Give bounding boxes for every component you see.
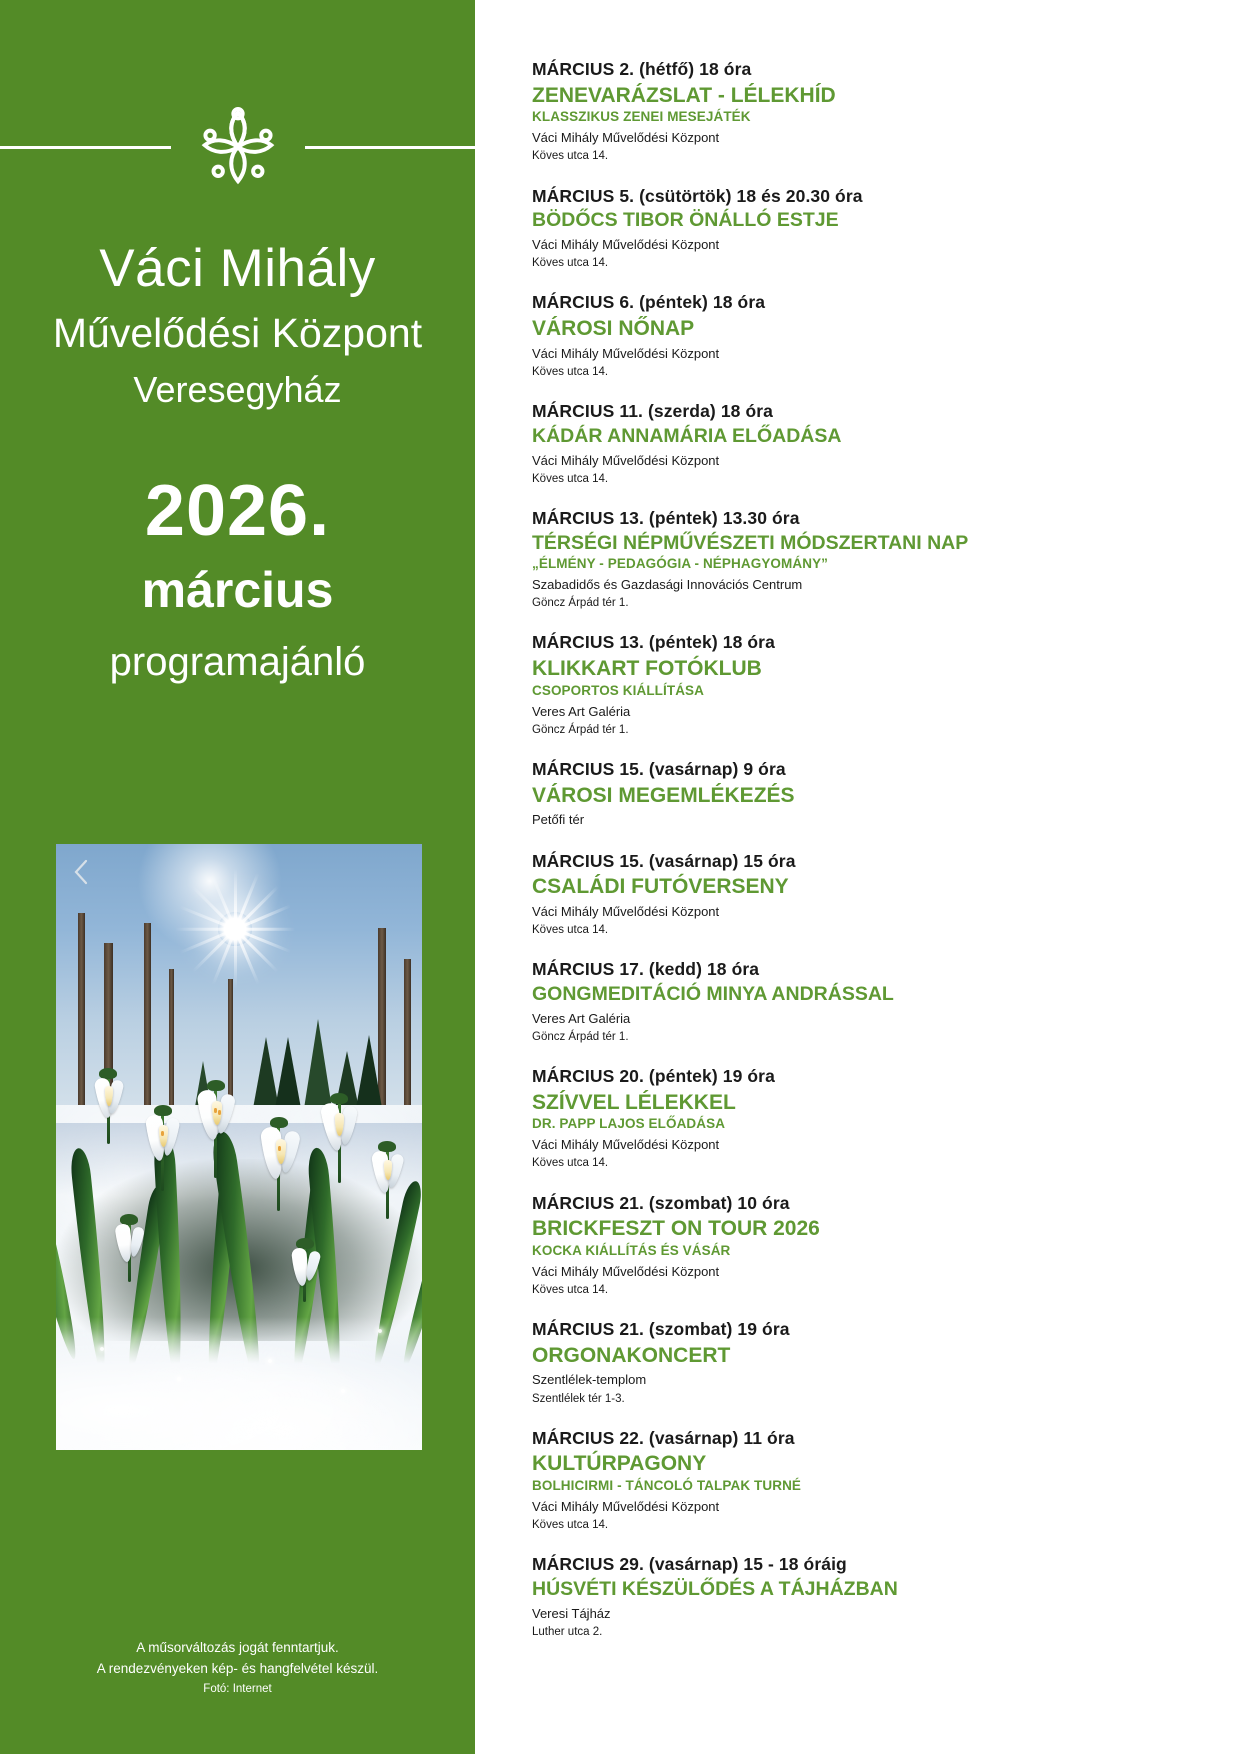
event-date: MÁRCIUS 13. (péntek) 13.30 óra bbox=[532, 507, 1044, 530]
event-address: Köves utca 14. bbox=[532, 1517, 1044, 1533]
event-subtitle: „ÉLMÉNY - PEDAGÓGIA - NÉPHAGYOMÁNY” bbox=[532, 556, 1044, 573]
event-subtitle: BOLHICIRMI - TÁNCOLÓ TALPAK TURNÉ bbox=[532, 1478, 1044, 1495]
divider-right bbox=[305, 146, 480, 149]
program-poster: Váci Mihály Művelődési Központ Veresegyh… bbox=[0, 0, 1241, 1754]
divider-left bbox=[0, 146, 171, 149]
event-item: MÁRCIUS 22. (vasárnap) 11 óraKULTÚRPAGON… bbox=[532, 1427, 1044, 1534]
event-venue: Váci Mihály Művelődési Központ bbox=[532, 129, 1044, 147]
photo-snow-foreground bbox=[56, 1317, 422, 1450]
event-venue: Szentlélek-templom bbox=[532, 1371, 1044, 1389]
event-address: Göncz Árpád tér 1. bbox=[532, 595, 1044, 611]
event-address: Göncz Árpád tér 1. bbox=[532, 722, 1044, 738]
institution-title-block: Váci Mihály Művelődési Központ Veresegyh… bbox=[0, 238, 475, 684]
event-venue: Váci Mihály Művelődési Központ bbox=[532, 1136, 1044, 1154]
event-date: MÁRCIUS 11. (szerda) 18 óra bbox=[532, 400, 1044, 423]
event-item: MÁRCIUS 5. (csütörtök) 18 és 20.30 óraBÖ… bbox=[532, 185, 1044, 272]
disclaimer-line-2: A rendezvényeken kép- és hangfelvétel ké… bbox=[0, 1659, 475, 1680]
event-venue: Váci Mihály Művelődési Központ bbox=[532, 236, 1044, 254]
event-address: Köves utca 14. bbox=[532, 1155, 1044, 1171]
events-panel: MÁRCIUS 2. (hétfő) 18 óraZENEVARÁZSLAT -… bbox=[475, 0, 1241, 1754]
event-subtitle: KLASSZIKUS ZENEI MESEJÁTÉK bbox=[532, 109, 1044, 126]
event-item: MÁRCIUS 17. (kedd) 18 óraGONGMEDITÁCIÓ M… bbox=[532, 958, 1044, 1045]
chevron-left-icon[interactable] bbox=[72, 858, 90, 886]
event-venue: Szabadidős és Gazdasági Innovációs Centr… bbox=[532, 576, 1044, 594]
event-address: Köves utca 14. bbox=[532, 922, 1044, 938]
event-item: MÁRCIUS 29. (vasárnap) 15 - 18 óráigHÚSV… bbox=[532, 1553, 1044, 1640]
event-venue: Váci Mihály Művelődési Központ bbox=[532, 452, 1044, 470]
left-green-panel: Váci Mihály Művelődési Központ Veresegyh… bbox=[0, 0, 475, 1754]
event-title: ZENEVARÁZSLAT - LÉLEKHÍD bbox=[532, 83, 1044, 109]
disclaimer-line-1: A műsorváltozás jogát fenntartjuk. bbox=[0, 1638, 475, 1659]
event-title: CSALÁDI FUTÓVERSENY bbox=[532, 874, 1044, 900]
event-subtitle: DR. PAPP LAJOS ELŐADÁSA bbox=[532, 1116, 1044, 1133]
event-item: MÁRCIUS 21. (szombat) 10 óraBRICKFESZT O… bbox=[532, 1192, 1044, 1299]
event-venue: Váci Mihály Művelődési Központ bbox=[532, 1498, 1044, 1516]
event-item: MÁRCIUS 13. (péntek) 13.30 óraTÉRSÉGI NÉ… bbox=[532, 507, 1044, 612]
event-title: HÚSVÉTI KÉSZÜLŐDÉS A TÁJHÁZBAN bbox=[532, 1578, 1044, 1602]
institution-name-line2: Művelődési Központ bbox=[0, 307, 475, 359]
event-date: MÁRCIUS 21. (szombat) 19 óra bbox=[532, 1318, 1044, 1341]
event-item: MÁRCIUS 2. (hétfő) 18 óraZENEVARÁZSLAT -… bbox=[532, 58, 1044, 165]
event-venue: Váci Mihály Művelődési Központ bbox=[532, 1263, 1044, 1281]
event-item: MÁRCIUS 20. (péntek) 19 óraSZÍVVEL LÉLEK… bbox=[532, 1065, 1044, 1172]
event-item: MÁRCIUS 21. (szombat) 19 óraORGONAKONCER… bbox=[532, 1318, 1044, 1407]
event-subtitle: KOCKA KIÁLLÍTÁS ÉS VÁSÁR bbox=[532, 1243, 1044, 1260]
event-date: MÁRCIUS 2. (hétfő) 18 óra bbox=[532, 58, 1044, 81]
institution-name-line1: Váci Mihály bbox=[0, 238, 475, 301]
event-address: Köves utca 14. bbox=[532, 471, 1044, 487]
event-venue: Veres Art Galéria bbox=[532, 1010, 1044, 1028]
photo-canvas bbox=[56, 844, 422, 1450]
event-date: MÁRCIUS 15. (vasárnap) 9 óra bbox=[532, 758, 1044, 781]
event-address: Köves utca 14. bbox=[532, 255, 1044, 271]
event-date: MÁRCIUS 13. (péntek) 18 óra bbox=[532, 631, 1044, 654]
event-address: Köves utca 14. bbox=[532, 1282, 1044, 1298]
event-title: BÖDŐCS TIBOR ÖNÁLLÓ ESTJE bbox=[532, 209, 1044, 233]
event-date: MÁRCIUS 20. (péntek) 19 óra bbox=[532, 1065, 1044, 1088]
event-address: Szentlélek tér 1-3. bbox=[532, 1391, 1044, 1407]
event-date: MÁRCIUS 5. (csütörtök) 18 és 20.30 óra bbox=[532, 185, 1044, 208]
event-address: Göncz Árpád tér 1. bbox=[532, 1029, 1044, 1045]
event-date: MÁRCIUS 29. (vasárnap) 15 - 18 óráig bbox=[532, 1553, 1044, 1576]
event-title: VÁROSI MEGEMLÉKEZÉS bbox=[532, 783, 1044, 809]
city-name: Veresegyház bbox=[0, 367, 475, 414]
event-address: Köves utca 14. bbox=[532, 364, 1044, 380]
events-list: MÁRCIUS 2. (hétfő) 18 óraZENEVARÁZSLAT -… bbox=[532, 58, 1044, 1640]
event-item: MÁRCIUS 13. (péntek) 18 óraKLIKKART FOTÓ… bbox=[532, 631, 1044, 738]
year-label: 2026. bbox=[0, 474, 475, 550]
event-date: MÁRCIUS 21. (szombat) 10 óra bbox=[532, 1192, 1044, 1215]
event-item: MÁRCIUS 11. (szerda) 18 óraKÁDÁR ANNAMÁR… bbox=[532, 400, 1044, 487]
event-address: Luther utca 2. bbox=[532, 1624, 1044, 1640]
event-date: MÁRCIUS 17. (kedd) 18 óra bbox=[532, 958, 1044, 981]
flower-emblem-icon bbox=[193, 101, 283, 193]
event-date: MÁRCIUS 15. (vasárnap) 15 óra bbox=[532, 850, 1044, 873]
month-label: március bbox=[0, 563, 475, 618]
snowdrop-photo bbox=[56, 844, 422, 1450]
event-subtitle: CSOPORTOS KIÁLLÍTÁSA bbox=[532, 683, 1044, 700]
event-address: Köves utca 14. bbox=[532, 148, 1044, 164]
document-kind-label: programajánló bbox=[0, 640, 475, 684]
event-date: MÁRCIUS 6. (péntek) 18 óra bbox=[532, 291, 1044, 314]
event-title: KÁDÁR ANNAMÁRIA ELŐADÁSA bbox=[532, 425, 1044, 449]
photo-credit: Fotó: Internet bbox=[0, 1681, 475, 1699]
event-title: GONGMEDITÁCIÓ MINYA ANDRÁSSAL bbox=[532, 983, 1044, 1007]
event-venue: Váci Mihály Művelődési Központ bbox=[532, 345, 1044, 363]
event-title: BRICKFESZT ON TOUR 2026 bbox=[532, 1216, 1044, 1242]
event-title: KULTÚRPAGONY bbox=[532, 1451, 1044, 1477]
event-item: MÁRCIUS 6. (péntek) 18 óraVÁROSI NŐNAPVá… bbox=[532, 291, 1044, 380]
event-item: MÁRCIUS 15. (vasárnap) 15 óraCSALÁDI FUT… bbox=[532, 850, 1044, 939]
event-venue: Veresi Tájház bbox=[532, 1605, 1044, 1623]
event-title: TÉRSÉGI NÉPMŰVÉSZETI MÓDSZERTANI NAP bbox=[532, 532, 1044, 556]
event-title: ORGONAKONCERT bbox=[532, 1343, 1044, 1369]
event-title: KLIKKART FOTÓKLUB bbox=[532, 656, 1044, 682]
event-venue: Veres Art Galéria bbox=[532, 703, 1044, 721]
event-title: VÁROSI NŐNAP bbox=[532, 316, 1044, 342]
event-date: MÁRCIUS 22. (vasárnap) 11 óra bbox=[532, 1427, 1044, 1450]
logo-header bbox=[0, 112, 475, 182]
event-item: MÁRCIUS 15. (vasárnap) 9 óraVÁROSI MEGEM… bbox=[532, 758, 1044, 830]
event-venue: Váci Mihály Művelődési Központ bbox=[532, 903, 1044, 921]
disclaimer-block: A műsorváltozás jogát fenntartjuk. A ren… bbox=[0, 1638, 475, 1699]
event-venue: Petőfi tér bbox=[532, 811, 1044, 829]
event-title: SZÍVVEL LÉLEKKEL bbox=[532, 1090, 1044, 1116]
